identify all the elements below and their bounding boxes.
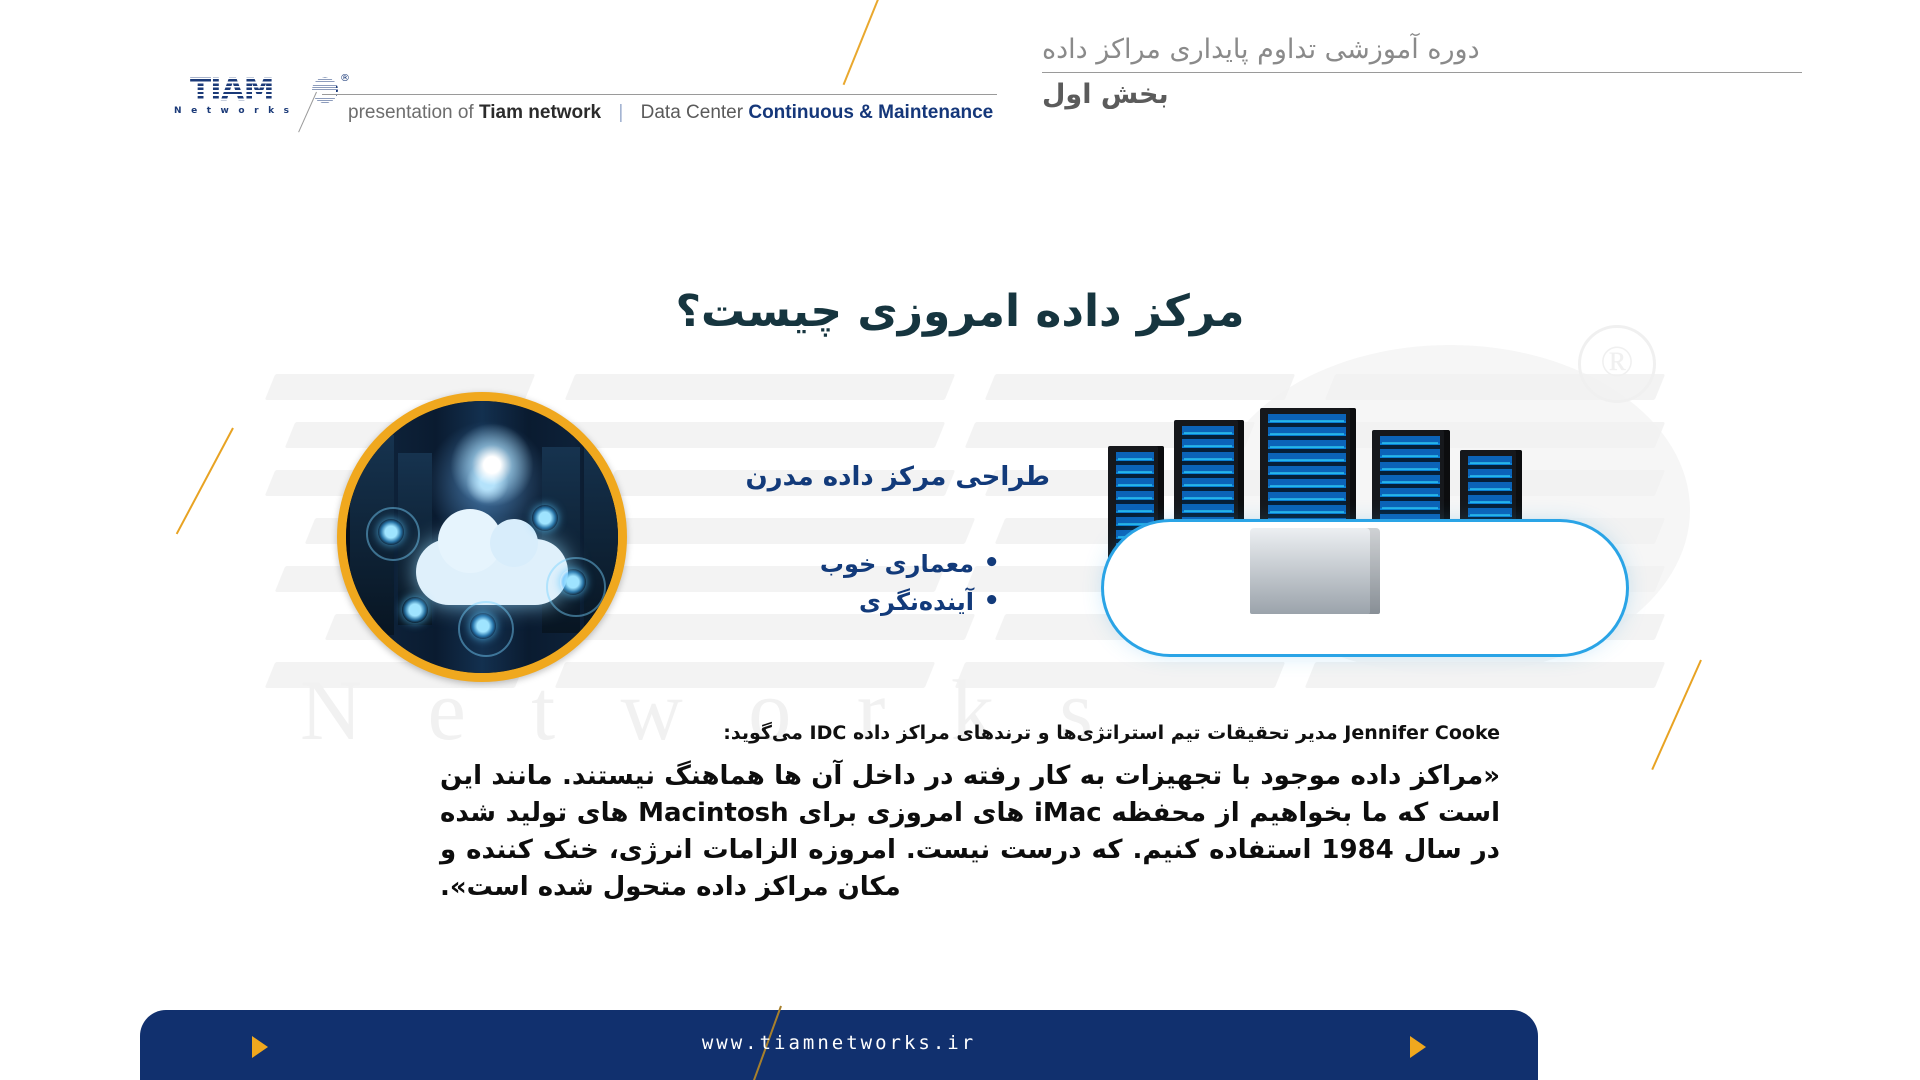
data-center-cloud-photo: [337, 392, 627, 682]
server-racks-cloud-illustration: [1100, 400, 1640, 660]
quote-author-role: مدیر تحقیقات تیم استراتژی‌ها و ترندهای م…: [723, 722, 1337, 744]
header-orange-diagonal: [843, 0, 882, 85]
slide-root: N e t w o r k s ® TIAM ® N e t w o r k s…: [0, 0, 1920, 1080]
tagline-data-center: Data Center: [641, 102, 743, 123]
photo-inner: [346, 401, 618, 673]
quote-attribution: Jennifer Cooke مدیر تحقیقات تیم استراتژی…: [723, 722, 1500, 744]
registered-icon: ®: [340, 73, 350, 84]
photo-light-beam: [450, 423, 534, 507]
course-part-label: بخش اول: [1042, 73, 1802, 117]
header-tagline: presentation of Tiam network | Data Cent…: [348, 102, 993, 124]
footer-bar: www.tiamnetworks.ir: [140, 1010, 1538, 1080]
tiam-wordmark-text: TIAM: [190, 75, 308, 105]
page-title: مرکز داده امروزی چیست؟: [0, 286, 1920, 337]
feature-bullet-list: معماری خوب آینده‌نگری: [820, 545, 1000, 621]
tagline-course-name: Continuous & Maintenance: [748, 102, 993, 123]
footer-arrow-right-icon: [1410, 1036, 1426, 1058]
photo-ring-icon: [458, 601, 514, 657]
section-subheading: طراحی مرکز داده مدرن: [745, 462, 1050, 492]
tiam-logo[interactable]: TIAM ® N e t w o r k s: [168, 75, 308, 123]
header-course-block: دوره آموزشی تداوم پایداری مراکز داده بخش…: [1042, 30, 1802, 117]
header-horizontal-rule: [322, 94, 997, 95]
footer-website-url[interactable]: www.tiamnetworks.ir: [140, 1032, 1538, 1054]
list-item: آینده‌نگری: [820, 583, 1000, 621]
photo-ring-icon: [546, 557, 606, 617]
quote-body: «مراکز داده موجود با تجهیزات به کار رفته…: [440, 758, 1500, 906]
watermark-networks-text: N e t w o r k s: [300, 660, 1115, 760]
header-slash-divider: [300, 92, 334, 132]
tagline-presentation-of: presentation of: [348, 102, 474, 123]
photo-node-icon: [532, 505, 558, 531]
list-item: معماری خوب: [820, 545, 1000, 583]
tiam-wordmark: TIAM ®: [190, 75, 308, 105]
photo-ring-icon: [366, 507, 420, 561]
quote-author-name: Jennifer Cooke: [1344, 722, 1500, 744]
tiam-logo-subtitle: N e t w o r k s: [174, 106, 292, 116]
photo-node-icon: [402, 597, 428, 623]
photo-cloud-icon: [416, 539, 568, 605]
tagline-separator: |: [618, 102, 623, 123]
course-title: دوره آموزشی تداوم پایداری مراکز داده: [1042, 30, 1802, 70]
tagline-brand: Tiam network: [479, 102, 601, 123]
front-server-unit: [1250, 528, 1380, 614]
photo-orange-diagonal: [176, 428, 234, 535]
